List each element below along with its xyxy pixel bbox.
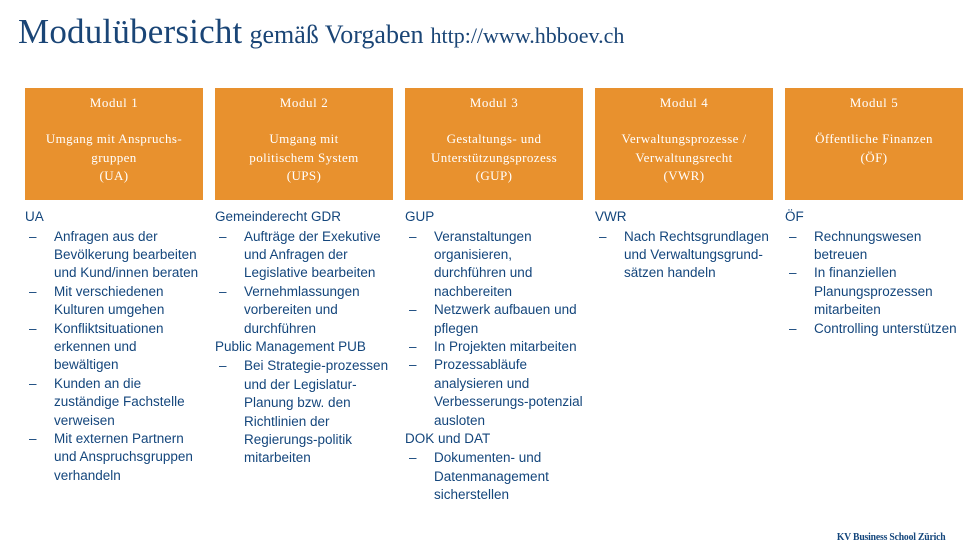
list-item-label: Bei Strategie-prozessen und der Legislat… — [244, 358, 388, 465]
competency-group-title: GUP — [405, 208, 583, 227]
list-item-label: Anfragen aus der Bevölkerung bearbeiten … — [54, 229, 198, 281]
competency-list: –Veranstaltungen organisieren, durchführ… — [405, 228, 583, 430]
list-item: –In finanziellen Planungsprozessen mitar… — [785, 264, 963, 319]
module-name: Umgang mitpolitischem System(UPS) — [221, 130, 387, 186]
list-item-label: Controlling unterstützen — [814, 321, 957, 336]
list-item: –Mit verschiedenen Kulturen umgehen — [25, 283, 203, 320]
page-title-url: http://www.hbboev.ch — [423, 23, 624, 48]
module-body: Gemeinderecht GDR–Aufträge der Exekutive… — [215, 200, 393, 468]
competency-group: Public Management PUB–Bei Strategie-proz… — [215, 338, 393, 468]
module-body: VWR–Nach Rechtsgrundlagen und Verwaltung… — [595, 200, 773, 283]
competency-list: –Dokumenten- und Datenmanagement sichers… — [405, 449, 583, 504]
dash-bullet-icon: – — [29, 375, 37, 393]
dash-bullet-icon: – — [409, 356, 417, 374]
competency-group-title: VWR — [595, 208, 773, 227]
page-title: Modulübersichtgemäß Vorgabenhttp://www.h… — [18, 12, 624, 52]
list-item: –Anfragen aus der Bevölkerung bearbeiten… — [25, 228, 203, 283]
module-columns: Modul 1Umgang mit Anspruchs-gruppen(UA)U… — [25, 88, 938, 505]
dash-bullet-icon: – — [29, 430, 37, 448]
competency-group-title: Public Management PUB — [215, 338, 393, 357]
module-name: Verwaltungsprozesse /Verwaltungsrecht(VW… — [601, 130, 767, 186]
list-item-label: Mit externen Partnern und Anspruchsgrupp… — [54, 431, 193, 483]
list-item: –Vernehmlassungen vorbereiten und durchf… — [215, 283, 393, 338]
module-body: UA–Anfragen aus der Bevölkerung bearbeit… — [25, 200, 203, 485]
list-item: –Netzwerk aufbauen und pflegen — [405, 301, 583, 338]
module-column: Modul 4Verwaltungsprozesse /Verwaltungsr… — [595, 88, 773, 505]
list-item-label: In Projekten mitarbeiten — [434, 339, 577, 354]
list-item: –Prozessabläufe analysieren und Verbesse… — [405, 356, 583, 430]
competency-group: GUP–Veranstaltungen organisieren, durchf… — [405, 208, 583, 430]
list-item-label: Veranstaltungen organisieren, durchführe… — [434, 229, 532, 299]
competency-group: VWR–Nach Rechtsgrundlagen und Verwaltung… — [595, 208, 773, 283]
dash-bullet-icon: – — [409, 301, 417, 319]
module-name: Öffentliche Finanzen(ÖF) — [791, 130, 957, 167]
footer-logo: KV Business School Zürich — [836, 531, 945, 543]
list-item-label: Mit verschiedenen Kulturen umgehen — [54, 284, 164, 317]
competency-group: Gemeinderecht GDR–Aufträge der Exekutive… — [215, 208, 393, 338]
competency-group: ÖF–Rechnungswesen betreuen–In finanziell… — [785, 208, 963, 338]
competency-group: UA–Anfragen aus der Bevölkerung bearbeit… — [25, 208, 203, 485]
competency-list: –Bei Strategie-prozessen und der Legisla… — [215, 357, 393, 467]
competency-group-title: DOK und DAT — [405, 430, 583, 449]
dash-bullet-icon: – — [29, 283, 37, 301]
list-item-label: Netzwerk aufbauen und pflegen — [434, 302, 577, 335]
module-body: ÖF–Rechnungswesen betreuen–In finanziell… — [785, 200, 963, 338]
competency-group-title: UA — [25, 208, 203, 227]
dash-bullet-icon: – — [29, 228, 37, 246]
list-item: –Rechnungswesen betreuen — [785, 228, 963, 265]
module-header: Modul 5Öffentliche Finanzen(ÖF) — [785, 88, 963, 200]
list-item-label: Konfliktsituationen erkennen und bewälti… — [54, 321, 164, 373]
list-item-label: Kunden an die zuständige Fachstelle verw… — [54, 376, 185, 428]
list-item: –Controlling unterstützen — [785, 320, 963, 338]
module-column: Modul 2Umgang mitpolitischem System(UPS)… — [215, 88, 393, 505]
dash-bullet-icon: – — [219, 228, 227, 246]
competency-group-title: ÖF — [785, 208, 963, 227]
page-title-main: Modulübersicht — [18, 12, 242, 51]
competency-list: –Anfragen aus der Bevölkerung bearbeiten… — [25, 228, 203, 486]
competency-group-title: Gemeinderecht GDR — [215, 208, 393, 227]
module-header: Modul 4Verwaltungsprozesse /Verwaltungsr… — [595, 88, 773, 200]
list-item: –Veranstaltungen organisieren, durchführ… — [405, 228, 583, 302]
list-item: –Konfliktsituationen erkennen und bewält… — [25, 320, 203, 375]
dash-bullet-icon: – — [599, 228, 607, 246]
dash-bullet-icon: – — [409, 228, 417, 246]
competency-group: DOK und DAT–Dokumenten- und Datenmanagem… — [405, 430, 583, 505]
list-item-label: Prozessabläufe analysieren und Verbesser… — [434, 357, 583, 427]
module-name: Umgang mit Anspruchs-gruppen(UA) — [31, 130, 197, 186]
dash-bullet-icon: – — [29, 320, 37, 338]
competency-list: –Rechnungswesen betreuen–In finanziellen… — [785, 228, 963, 338]
list-item-label: Vernehmlassungen vorbereiten und durchfü… — [244, 284, 360, 336]
dash-bullet-icon: – — [409, 338, 417, 356]
module-number: Modul 3 — [411, 95, 577, 111]
competency-list: –Nach Rechtsgrundlagen und Verwaltungsgr… — [595, 228, 773, 283]
module-number: Modul 2 — [221, 95, 387, 111]
dash-bullet-icon: – — [219, 283, 227, 301]
module-column: Modul 5Öffentliche Finanzen(ÖF)ÖF–Rechnu… — [785, 88, 963, 505]
module-header: Modul 1Umgang mit Anspruchs-gruppen(UA) — [25, 88, 203, 200]
list-item-label: Aufträge der Exekutive und Anfragen der … — [244, 229, 381, 281]
list-item: –Dokumenten- und Datenmanagement sichers… — [405, 449, 583, 504]
dash-bullet-icon: – — [789, 228, 797, 246]
module-header: Modul 3Gestaltungs- undUnterstützungspro… — [405, 88, 583, 200]
list-item-label: Nach Rechtsgrundlagen und Verwaltungsgru… — [624, 229, 769, 281]
list-item: –Mit externen Partnern und Anspruchsgrup… — [25, 430, 203, 485]
module-column: Modul 1Umgang mit Anspruchs-gruppen(UA)U… — [25, 88, 203, 505]
list-item: –Bei Strategie-prozessen und der Legisla… — [215, 357, 393, 467]
module-header: Modul 2Umgang mitpolitischem System(UPS) — [215, 88, 393, 200]
module-name: Gestaltungs- undUnterstützungsprozess(GU… — [411, 130, 577, 186]
module-number: Modul 4 — [601, 95, 767, 111]
list-item: –Nach Rechtsgrundlagen und Verwaltungsgr… — [595, 228, 773, 283]
list-item: –Aufträge der Exekutive und Anfragen der… — [215, 228, 393, 283]
module-number: Modul 1 — [31, 95, 197, 111]
list-item-label: In finanziellen Planungsprozessen mitarb… — [814, 265, 933, 317]
page-title-subtitle: gemäß Vorgaben — [242, 20, 423, 49]
list-item: –In Projekten mitarbeiten — [405, 338, 583, 356]
dash-bullet-icon: – — [409, 449, 417, 467]
module-column: Modul 3Gestaltungs- undUnterstützungspro… — [405, 88, 583, 505]
competency-list: –Aufträge der Exekutive und Anfragen der… — [215, 228, 393, 338]
list-item-label: Rechnungswesen betreuen — [814, 229, 921, 262]
module-number: Modul 5 — [791, 95, 957, 111]
module-body: GUP–Veranstaltungen organisieren, durchf… — [405, 200, 583, 505]
dash-bullet-icon: – — [219, 357, 227, 375]
list-item-label: Dokumenten- und Datenmanagement sicherst… — [434, 450, 549, 502]
list-item: –Kunden an die zuständige Fachstelle ver… — [25, 375, 203, 430]
dash-bullet-icon: – — [789, 264, 797, 282]
dash-bullet-icon: – — [789, 320, 797, 338]
